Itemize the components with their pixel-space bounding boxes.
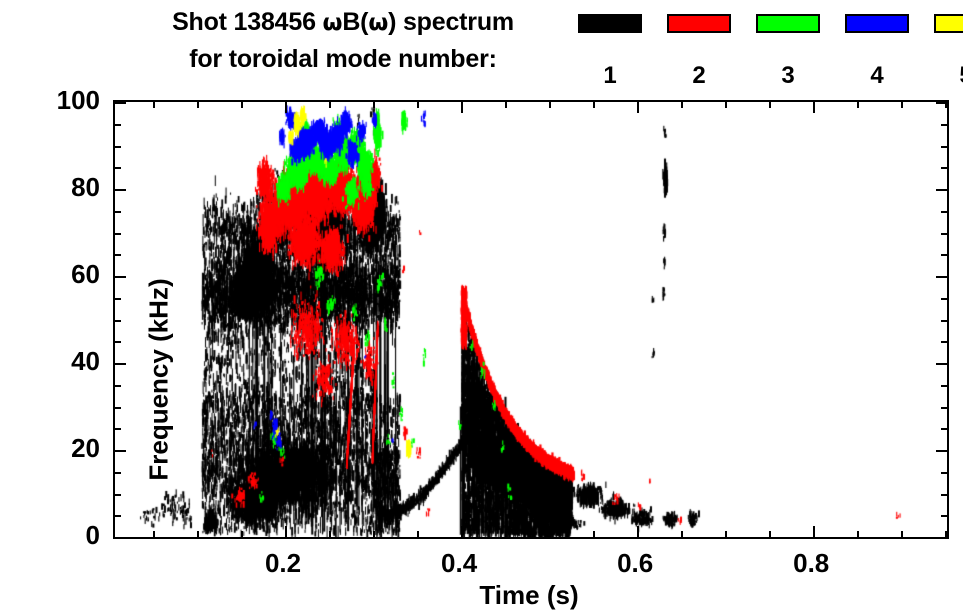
y-major-tick-right <box>936 189 947 191</box>
y-minor-tick-right <box>941 515 947 517</box>
x-minor-tick-top <box>373 102 375 108</box>
y-minor-tick <box>115 472 121 474</box>
x-minor-tick <box>549 531 551 537</box>
y-minor-tick-right <box>941 407 947 409</box>
x-minor-tick <box>769 531 771 537</box>
x-minor-tick <box>505 531 507 537</box>
x-major-tick-top <box>637 102 639 113</box>
y-minor-tick <box>115 385 121 387</box>
y-minor-tick <box>115 254 121 256</box>
legend-label-1: 1 <box>578 62 642 90</box>
y-minor-tick <box>115 146 121 148</box>
y-major-tick-right <box>936 102 947 104</box>
y-major-tick-right <box>936 363 947 365</box>
spectrogram-canvas-wrap <box>115 102 947 537</box>
title-mid: B( <box>342 8 368 36</box>
y-minor-tick-right <box>941 472 947 474</box>
y-major-tick <box>115 189 126 191</box>
y-minor-tick <box>115 407 121 409</box>
y-minor-tick <box>115 211 121 213</box>
y-major-tick <box>115 363 126 365</box>
y-minor-tick-right <box>941 146 947 148</box>
x-tick-label: 0.4 <box>414 548 504 579</box>
x-major-tick <box>285 526 287 537</box>
legend-swatch-2 <box>667 14 731 33</box>
legend-swatch-1 <box>578 14 642 33</box>
y-minor-tick <box>115 167 121 169</box>
y-minor-tick <box>115 233 121 235</box>
title-line-2: for toroidal mode number: <box>113 41 573 77</box>
x-minor-tick <box>329 531 331 537</box>
x-minor-tick-top <box>769 102 771 108</box>
legend-label-3: 3 <box>756 62 820 90</box>
title-line-1: Shot 138456 ωB(ω) spectrum <box>113 4 573 41</box>
x-major-tick-top <box>461 102 463 113</box>
y-minor-tick-right <box>941 298 947 300</box>
x-minor-tick <box>417 531 419 537</box>
y-minor-tick-right <box>941 320 947 322</box>
x-major-tick <box>461 526 463 537</box>
x-axis-title: Time (s) <box>113 580 945 611</box>
y-major-tick <box>115 537 126 539</box>
x-minor-tick <box>197 531 199 537</box>
legend-swatch-4 <box>845 14 909 33</box>
spectrogram-figure: Shot 138456 ωB(ω) spectrum for toroidal … <box>0 0 963 615</box>
figure-title: Shot 138456 ωB(ω) spectrum for toroidal … <box>113 4 573 77</box>
spectrogram-canvas <box>115 102 947 537</box>
x-minor-tick-top <box>197 102 199 108</box>
y-major-tick <box>115 450 126 452</box>
y-tick-label: 100 <box>5 85 100 116</box>
y-major-tick-right <box>936 450 947 452</box>
x-minor-tick <box>241 531 243 537</box>
x-minor-tick <box>153 531 155 537</box>
x-minor-tick-top <box>725 102 727 108</box>
y-minor-tick-right <box>941 124 947 126</box>
x-minor-tick-top <box>901 102 903 108</box>
y-minor-tick-right <box>941 428 947 430</box>
omega-symbol-1: ω <box>323 10 343 36</box>
x-minor-tick-top <box>681 102 683 108</box>
y-minor-tick <box>115 515 121 517</box>
y-minor-tick <box>115 298 121 300</box>
legend-swatch-3 <box>756 14 820 33</box>
x-minor-tick-top <box>241 102 243 108</box>
y-major-tick <box>115 276 126 278</box>
legend-label-4: 4 <box>845 62 909 90</box>
y-minor-tick <box>115 341 121 343</box>
y-axis-title: Frequency (kHz) <box>144 240 175 520</box>
title-prefix: Shot 138456 <box>172 8 322 36</box>
x-minor-tick <box>593 531 595 537</box>
y-minor-tick-right <box>941 233 947 235</box>
x-major-tick <box>637 526 639 537</box>
y-minor-tick <box>115 320 121 322</box>
y-minor-tick-right <box>941 211 947 213</box>
x-minor-tick-top <box>549 102 551 108</box>
y-tick-label: 40 <box>5 346 100 377</box>
y-tick-label: 0 <box>5 520 100 551</box>
x-minor-tick-top <box>153 102 155 108</box>
omega-symbol-2: ω <box>368 10 388 36</box>
y-minor-tick <box>115 124 121 126</box>
y-major-tick <box>115 102 126 104</box>
legend-swatch-5 <box>934 14 963 33</box>
y-minor-tick-right <box>941 341 947 343</box>
x-minor-tick-top <box>593 102 595 108</box>
x-major-tick-top <box>285 102 287 113</box>
y-major-tick-right <box>936 537 947 539</box>
y-minor-tick-right <box>941 254 947 256</box>
x-minor-tick <box>373 531 375 537</box>
y-minor-tick-right <box>941 494 947 496</box>
x-tick-label: 0.8 <box>766 548 856 579</box>
y-minor-tick <box>115 428 121 430</box>
y-minor-tick-right <box>941 385 947 387</box>
x-minor-tick <box>681 531 683 537</box>
legend-label-2: 2 <box>667 62 731 90</box>
x-minor-tick-top <box>329 102 331 108</box>
legend-label-5: 5 <box>934 62 963 90</box>
x-minor-tick <box>901 531 903 537</box>
title-suffix: ) spectrum <box>388 8 514 36</box>
x-minor-tick-top <box>857 102 859 108</box>
y-tick-label: 60 <box>5 259 100 290</box>
x-tick-label: 0.2 <box>238 548 328 579</box>
x-major-tick <box>813 526 815 537</box>
x-minor-tick-top <box>505 102 507 108</box>
x-minor-tick <box>857 531 859 537</box>
x-minor-tick <box>725 531 727 537</box>
x-major-tick-top <box>813 102 815 113</box>
y-tick-label: 80 <box>5 172 100 203</box>
y-tick-label: 20 <box>5 433 100 464</box>
x-tick-label: 0.6 <box>590 548 680 579</box>
y-major-tick-right <box>936 276 947 278</box>
x-minor-tick-top <box>417 102 419 108</box>
y-minor-tick-right <box>941 167 947 169</box>
plot-area: Frequency (kHz) <box>113 100 949 539</box>
y-minor-tick <box>115 494 121 496</box>
